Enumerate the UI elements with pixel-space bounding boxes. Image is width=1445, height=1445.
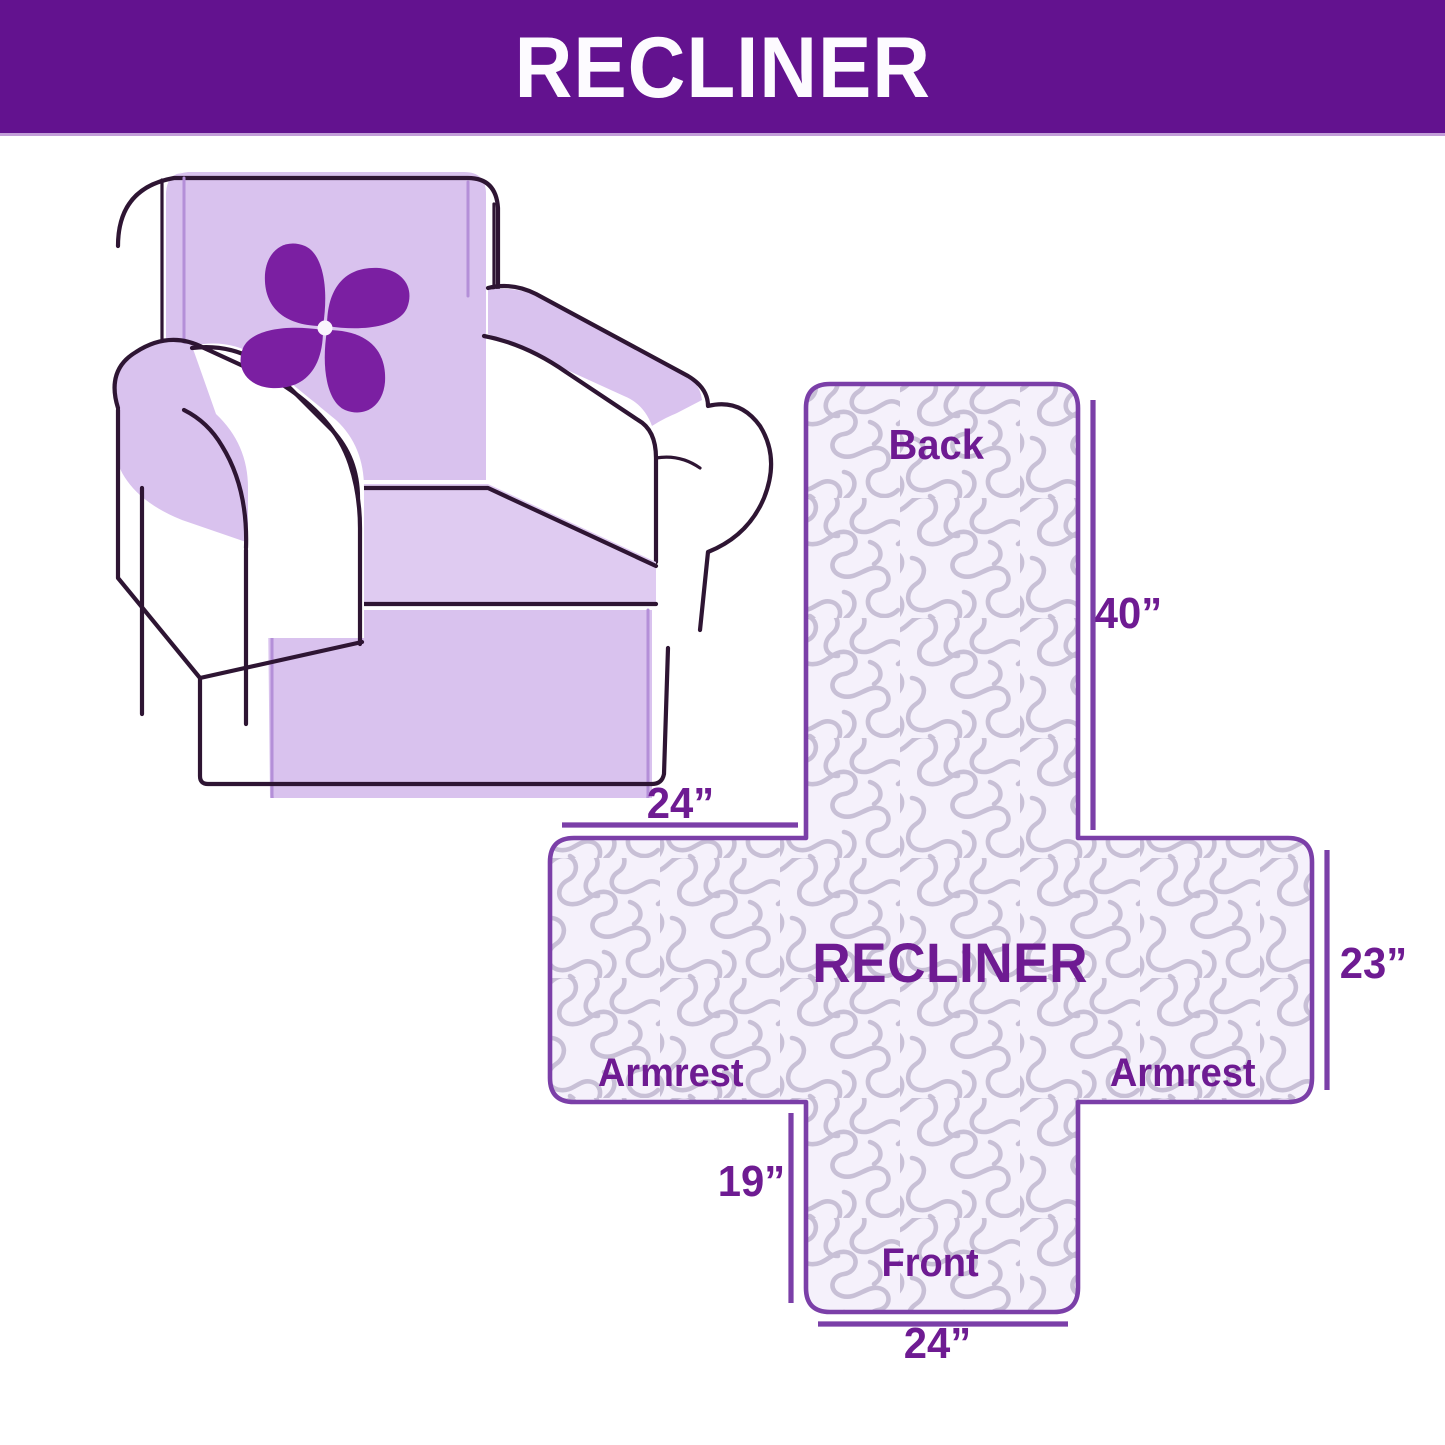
pattern-label-front: Front (882, 1243, 979, 1283)
dimension-label-back-height: 40” (1095, 592, 1162, 636)
recliner-size-diagram-page: RECLINER .lav { fill:#D9C2EE; } .lav2 { … (0, 0, 1445, 1445)
pattern-label-back: Back (889, 424, 984, 466)
dimension-label-front-height: 19” (718, 1160, 785, 1204)
pattern-label-recliner: RECLINER (812, 935, 1088, 991)
pattern-cross-shape (550, 384, 1312, 1312)
pattern-label-armrest-right: Armrest (1110, 1053, 1256, 1093)
dimension-label-back-width: 24” (647, 782, 714, 826)
flat-pattern-diagram (540, 378, 1420, 1338)
page-title: RECLINER (514, 25, 930, 111)
pattern-label-armrest-left: Armrest (598, 1053, 744, 1093)
header-divider (0, 133, 1445, 136)
dimension-label-front-width: 24” (904, 1322, 971, 1366)
dimension-label-seat-depth: 23” (1340, 942, 1407, 986)
header-band: RECLINER (0, 0, 1445, 133)
